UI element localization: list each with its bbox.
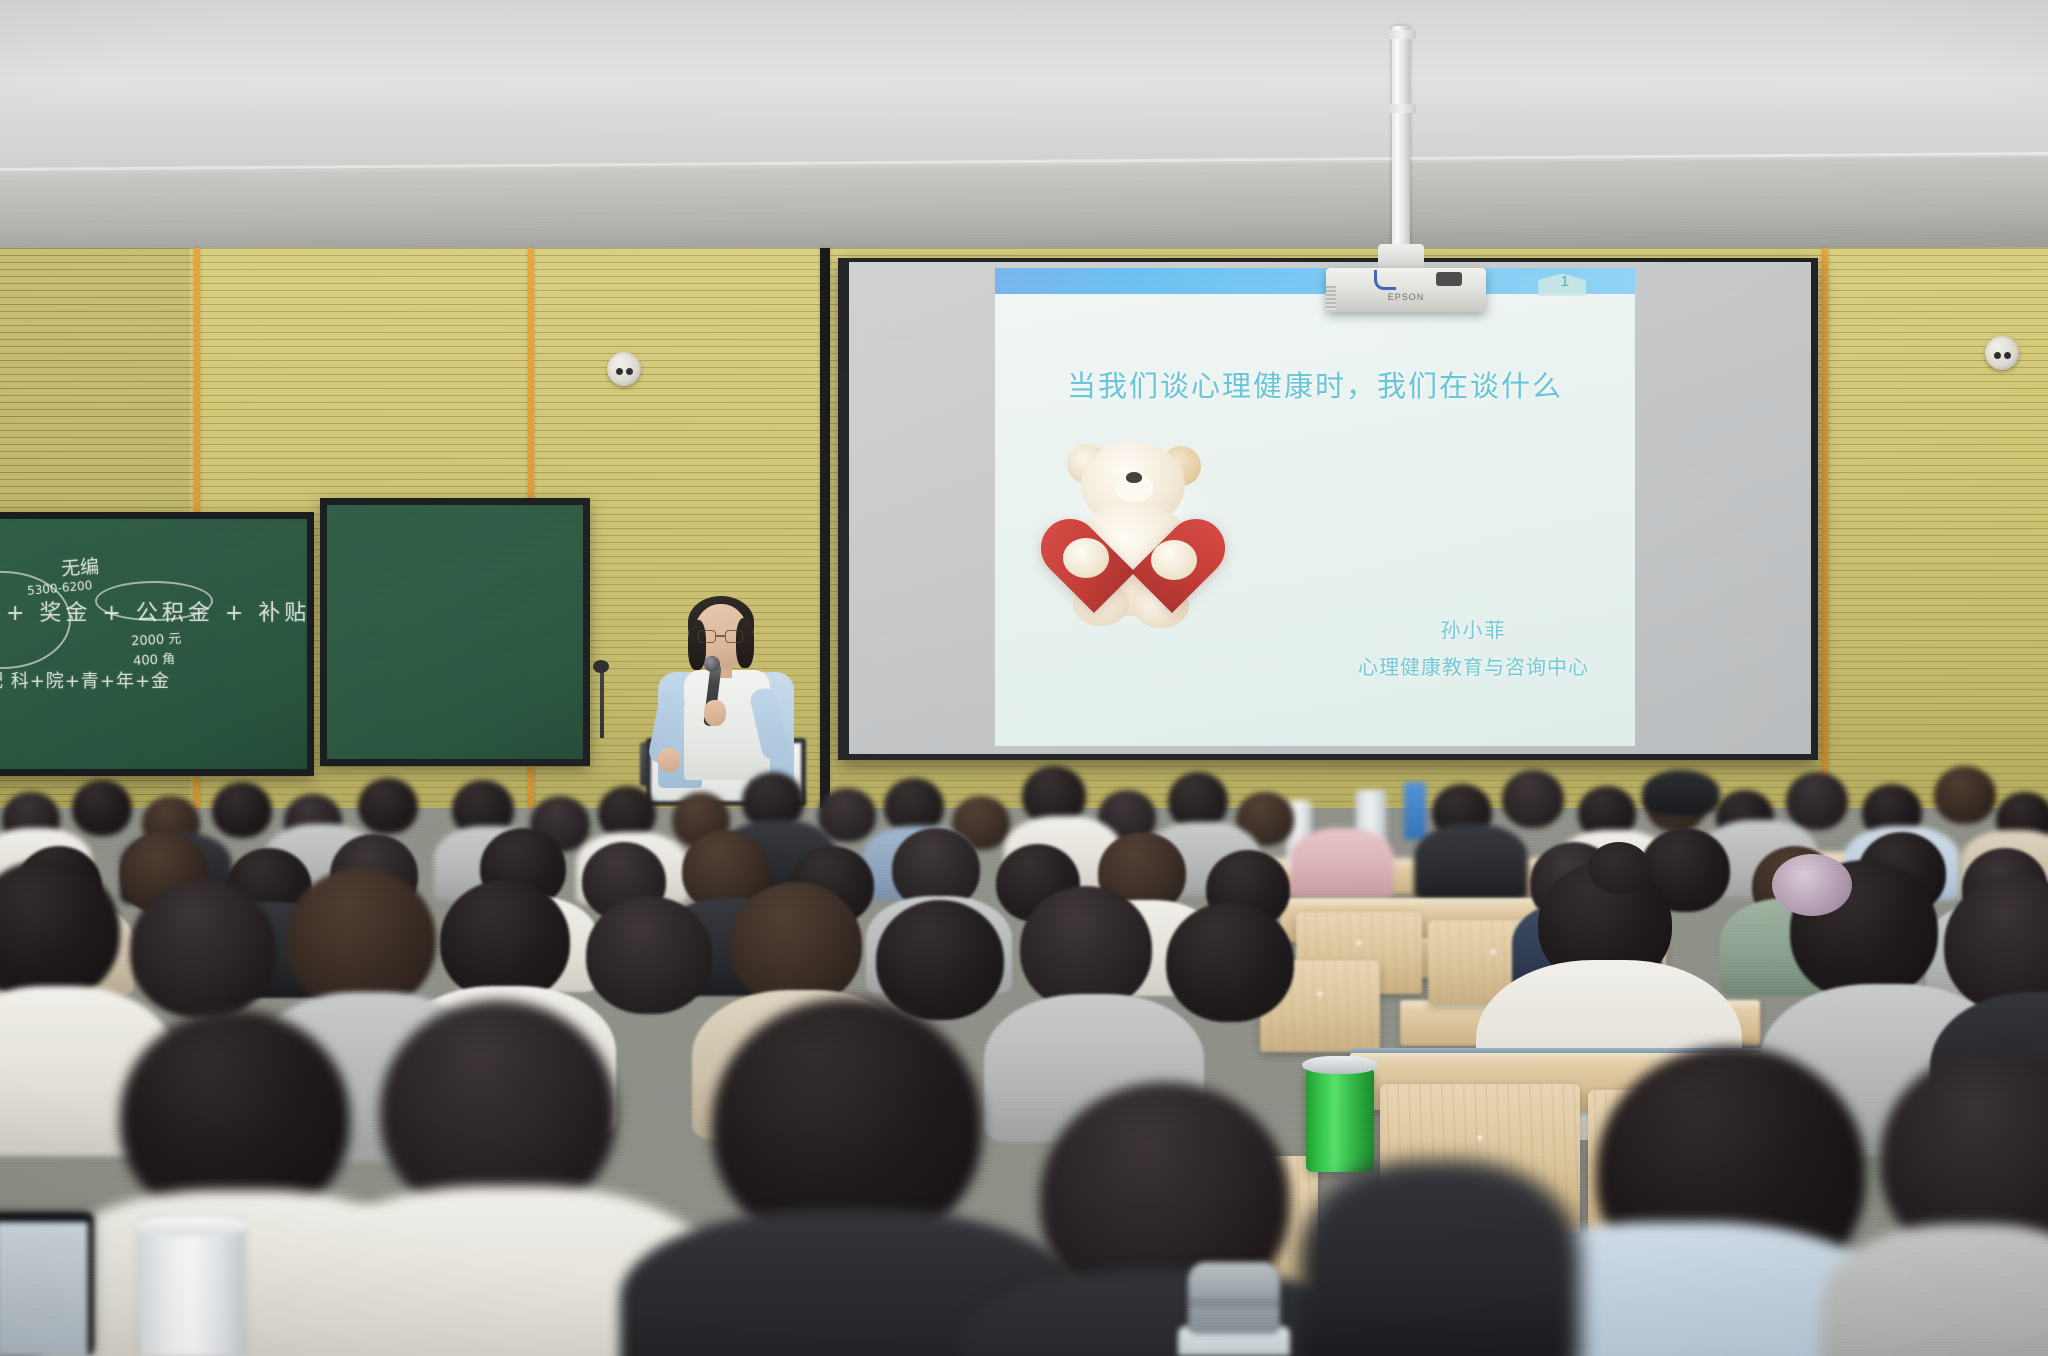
audience-head [730, 882, 862, 1006]
audience-head [586, 896, 712, 1014]
audience-hat-icon [1642, 770, 1720, 816]
projector-body: EPSON [1326, 268, 1486, 312]
chalk-note-3: 2000 元 [131, 628, 182, 650]
green-beverage-can [1306, 1068, 1374, 1172]
wall-seam [1822, 248, 1828, 808]
slide-top-banner: 1 [995, 268, 1635, 294]
projector-brand-label: EPSON [1326, 292, 1486, 302]
wall-seam-dark [820, 248, 830, 808]
projector-cable [1374, 270, 1396, 290]
chalkboard-left: 无编 5300-6200 额 + 奖金 + 公积金 + 补贴 2000 元 40… [0, 512, 314, 776]
glasses-icon [698, 630, 744, 643]
audience-shoulders-foreground [1300, 1160, 1580, 1356]
gooseneck-microphone-stand [600, 668, 604, 738]
chalk-note-4: 400 角 [133, 648, 176, 669]
cup-lid-icon [136, 1216, 248, 1236]
audience-head [876, 900, 1004, 1020]
audience-head [440, 880, 570, 1002]
slide-title: 当我们谈心理健康时，我们在谈什么 [995, 363, 1635, 405]
lecture-hall-photo: 无编 5300-6200 额 + 奖金 + 公积金 + 补贴 2000 元 40… [0, 0, 2048, 1356]
audience-shoulders [1290, 828, 1394, 898]
bear-paw-right-icon [1151, 540, 1197, 580]
slide-speaker-name: 孙小菲 [1358, 614, 1589, 643]
audience-shoulders-foreground [1820, 1224, 2048, 1356]
teddy-bear-heart-illustration [1043, 436, 1221, 632]
projector-mount-bracket [1378, 244, 1424, 270]
audience-head [358, 778, 418, 834]
slide-credit-block: 孙小菲 心理健康教育与咨询中心 [1358, 614, 1589, 680]
chalk-note-0: 无编 [60, 552, 100, 582]
audience-head [1786, 772, 1848, 830]
hair-bun-icon [1588, 842, 1650, 894]
slide-organization: 心理健康教育与咨询中心 [1358, 651, 1589, 680]
chalkboard-surface [327, 505, 583, 759]
presenter-hair-side-right [736, 618, 754, 668]
audience-head [212, 782, 272, 838]
projector-lens-icon [1436, 272, 1462, 286]
handheld-microphone-head-icon [704, 656, 720, 672]
blue-phone-object [1404, 782, 1426, 840]
wall-speaker-icon [607, 352, 641, 386]
audience-shoulders [1414, 824, 1528, 900]
chalkboard-surface: 无编 5300-6200 额 + 奖金 + 公积金 + 补贴 2000 元 40… [0, 519, 307, 769]
can-top-icon [1302, 1056, 1378, 1074]
tablet-device [0, 1212, 94, 1356]
presenter-hand-left [658, 748, 680, 772]
projector-pole-collar [1386, 30, 1416, 39]
chalk-note-5: 配 科+院+青+年+金 [0, 667, 170, 693]
chalk-note-2: 额 + 奖金 + 公积金 + 补贴 [0, 595, 307, 627]
chalkboard-right [320, 498, 590, 766]
bear-paw-left-icon [1063, 538, 1109, 578]
gooseneck-microphone-head-icon [593, 660, 609, 673]
projected-slide: 1 当我们谈心理健康时，我们在谈什么 孙小菲 心理健康教育与咨询中心 [995, 268, 1635, 746]
audience-head [72, 780, 132, 836]
audience-head [130, 880, 276, 1018]
projector-vent-icon [1326, 286, 1336, 310]
audience-head [1166, 902, 1294, 1022]
projector-pole-collar [1386, 104, 1416, 113]
audience-head [1020, 886, 1152, 1010]
hair-scrunchie-icon [1772, 854, 1852, 916]
tablet-screen [0, 1222, 88, 1356]
audience-head [1934, 766, 1996, 824]
audience-head [286, 868, 436, 1010]
wall-speaker-icon [1985, 336, 2019, 370]
audience-head [1502, 770, 1564, 828]
presenter-hand-right [704, 700, 726, 726]
water-bottle-ring [1188, 1298, 1280, 1307]
slide-number: 1 [1561, 273, 1569, 290]
white-cup [140, 1222, 244, 1356]
